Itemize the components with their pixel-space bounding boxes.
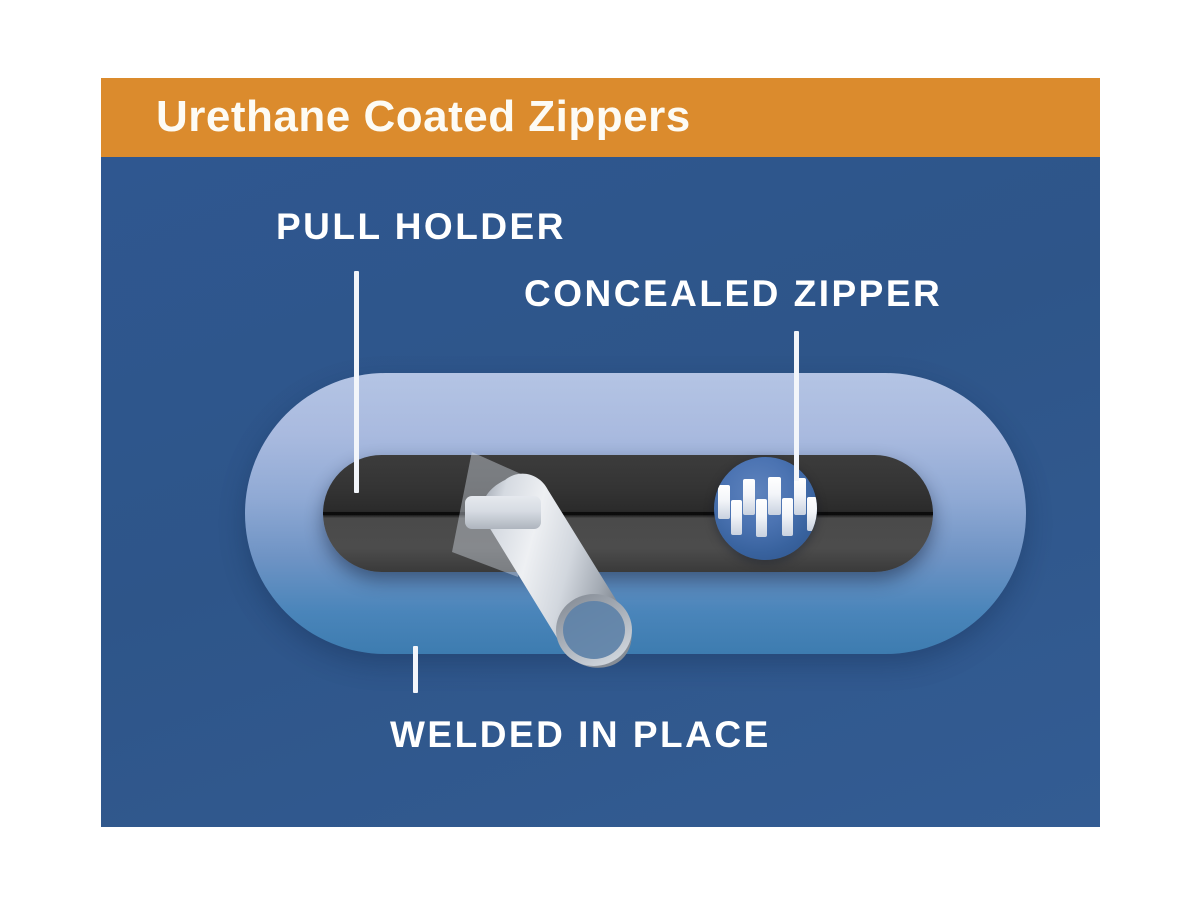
title-bar: Urethane Coated Zippers	[101, 78, 1100, 157]
zipper-teeth-group	[714, 457, 817, 560]
zipper-tooth	[743, 479, 755, 515]
zipper-tooth	[718, 485, 730, 519]
zipper-tooth	[807, 497, 817, 531]
zipper-tooth	[731, 500, 742, 535]
diagram-panel: PULL HOLDER CONCEALED ZIPPER WELDED IN P…	[101, 157, 1100, 827]
page-title: Urethane Coated Zippers	[156, 92, 691, 142]
leader-line-concealed-zipper	[794, 331, 799, 481]
zipper-tooth	[768, 477, 781, 515]
callout-label-concealed-zipper: CONCEALED ZIPPER	[524, 273, 942, 315]
leader-line-pull-holder	[354, 271, 359, 493]
diagram-canvas: Urethane Coated Zippers	[0, 0, 1200, 906]
zipper-tooth	[794, 478, 806, 515]
zipper-tooth	[782, 498, 793, 536]
zipper-tooth	[756, 499, 767, 537]
callout-label-pull-holder: PULL HOLDER	[276, 206, 566, 248]
callout-label-welded-in-place: WELDED IN PLACE	[390, 714, 771, 756]
leader-line-welded-in-place	[413, 646, 418, 693]
pull-holder-tab	[465, 496, 541, 529]
pull-tab-hole-inner	[563, 601, 625, 659]
zipper-teeth-magnifier	[714, 457, 817, 560]
